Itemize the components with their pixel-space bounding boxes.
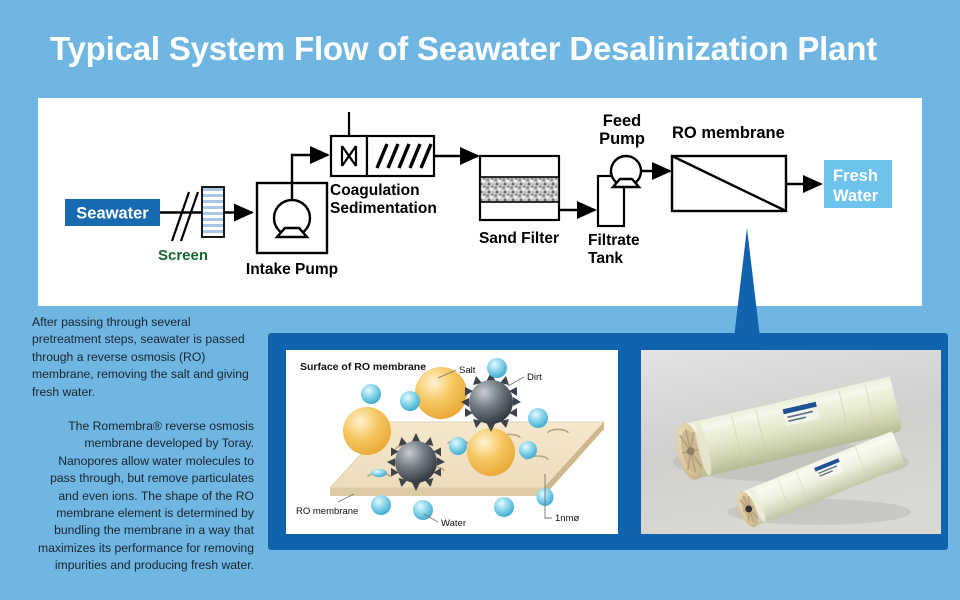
sand-filter-box: [480, 156, 559, 220]
description-paragraph-1: After passing through several pretreatme…: [32, 314, 254, 401]
sand-filter-label: Sand Filter: [479, 230, 559, 247]
description-paragraph-2: The Romembra® reverse osmosis membrane d…: [32, 418, 254, 575]
coagulation-label-2: Sedimentation: [330, 200, 437, 217]
page-title: Typical System Flow of Seawater Desalini…: [50, 30, 920, 68]
membrane-illustration-panel: Surface of RO membrane: [286, 350, 618, 534]
water-label: Water: [441, 518, 466, 529]
flow-diagram-svg: Seawater Screen Intake Pump: [38, 98, 922, 306]
membrane-illustration-svg: Surface of RO membrane: [286, 350, 618, 534]
ro-membrane-box: [672, 156, 786, 211]
screen-element: [202, 187, 224, 237]
filtrate-tank-label-2: Tank: [588, 250, 623, 267]
salt-label: Salt: [459, 365, 476, 376]
pore-size-label: 1nmø: [555, 513, 579, 524]
ro-element-photo-panel: [641, 350, 941, 534]
dirt-label: Dirt: [527, 372, 542, 383]
sedimentation-cell: [367, 136, 434, 176]
filtrate-tank-label-1: Filtrate: [588, 232, 640, 249]
ro-element-photo-svg: [641, 350, 941, 534]
screen-slash-1: [181, 192, 198, 241]
callout-pointer-triangle: [733, 228, 761, 346]
fresh-water-label-2: Water: [833, 187, 879, 205]
feed-pump-label-1: Feed: [603, 112, 642, 130]
screen-slash-2: [172, 192, 189, 241]
infographic-page: Typical System Flow of Seawater Desalini…: [0, 0, 960, 600]
seawater-label: Seawater: [76, 205, 149, 223]
screen-label: Screen: [158, 247, 208, 264]
ro-membrane-illustration-label: RO membrane: [296, 506, 358, 517]
flow-diagram-panel: Seawater Screen Intake Pump: [38, 98, 922, 306]
fresh-water-label-1: Fresh: [833, 167, 878, 185]
coagulation-label-1: Coagulation: [330, 182, 420, 199]
membrane-heading: Surface of RO membrane: [300, 361, 426, 373]
feed-pump-label-2: Pump: [599, 130, 645, 148]
description-text-column: After passing through several pretreatme…: [32, 314, 254, 575]
intake-pump-label: Intake Pump: [246, 261, 338, 278]
ro-membrane-label: RO membrane: [672, 124, 785, 142]
